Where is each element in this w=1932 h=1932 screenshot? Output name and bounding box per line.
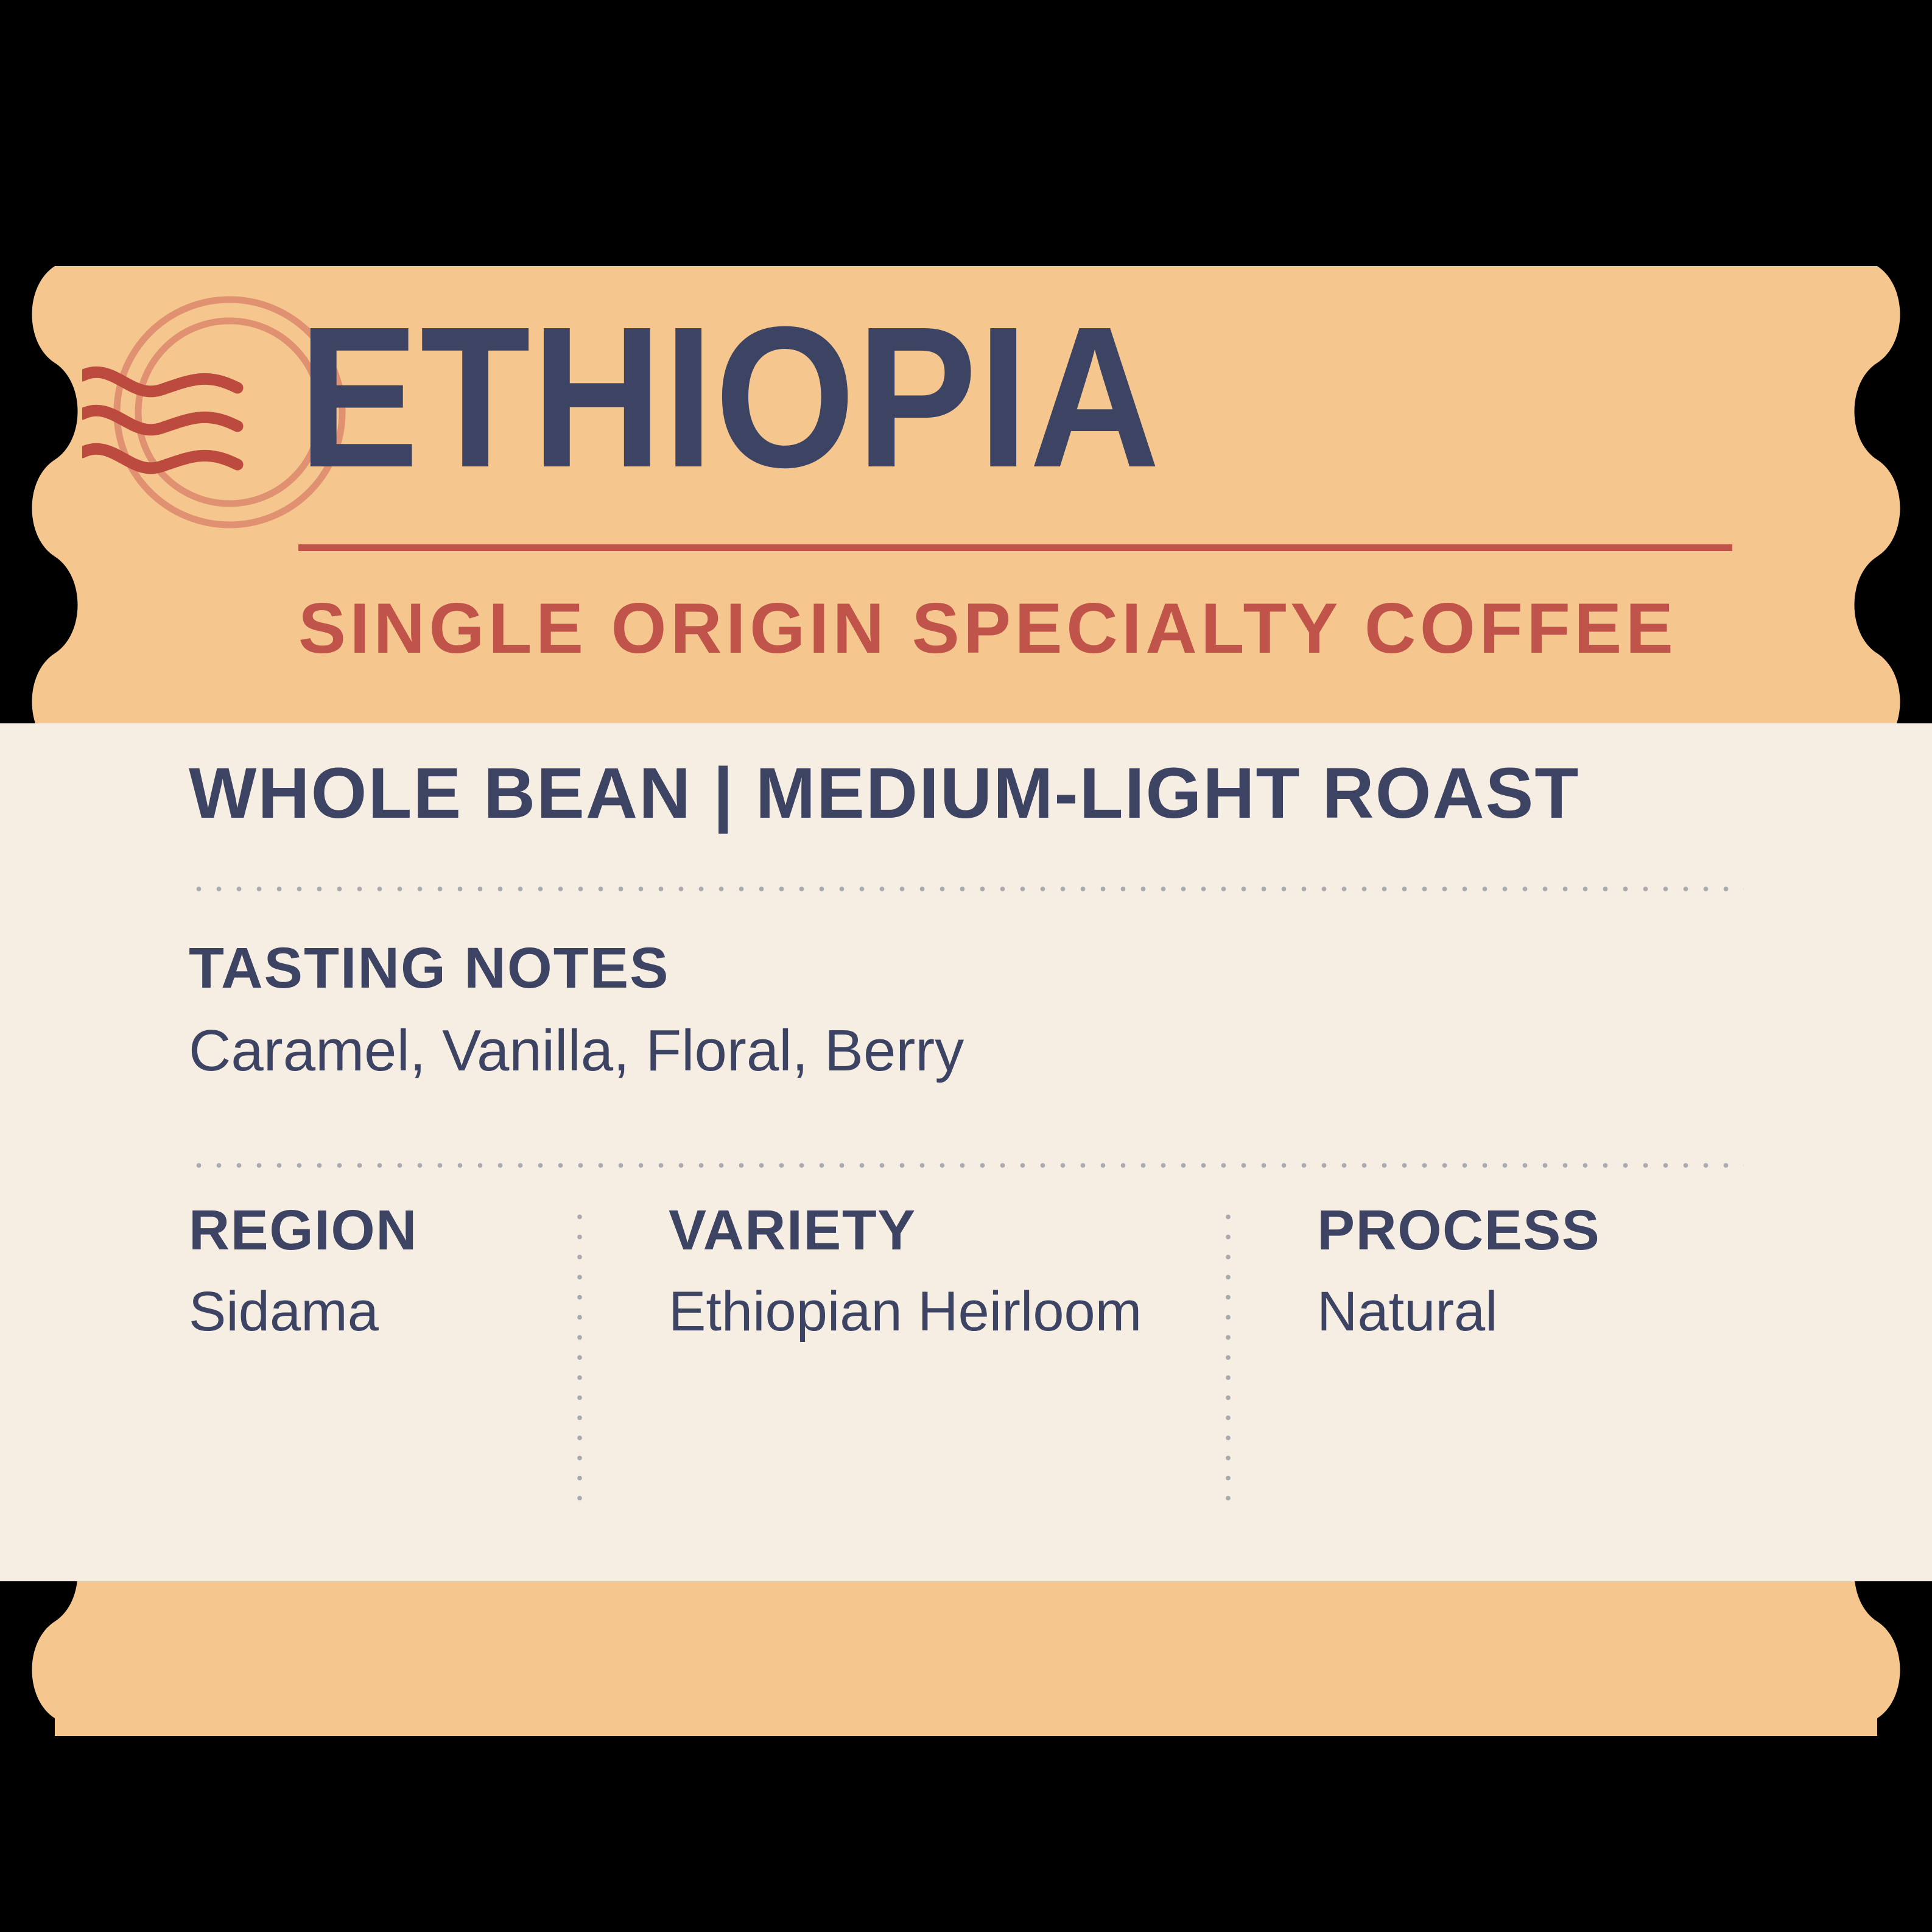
label-body: WHOLE BEAN | MEDIUM-LIGHT ROAST TASTING … [0, 723, 1932, 1581]
detail-columns: REGION Sidama VARIETY Ethiopian Heirloom… [0, 1198, 1932, 1539]
region-heading: REGION [189, 1198, 554, 1262]
process-value: Natural [1317, 1280, 1853, 1343]
label-stage: ETHIOPIA SINGLE ORIGIN SPECIALTY COFFEE … [0, 0, 1932, 1932]
coffee-label-card: ETHIOPIA SINGLE ORIGIN SPECIALTY COFFEE … [0, 266, 1932, 1736]
label-header: ETHIOPIA SINGLE ORIGIN SPECIALTY COFFEE [0, 266, 1932, 723]
tasting-notes-heading: TASTING NOTES [189, 936, 1407, 1000]
title-underline-rule [298, 544, 1732, 551]
variety-value: Ethiopian Heirloom [669, 1280, 1204, 1343]
page-title: ETHIOPIA [298, 303, 1614, 491]
label-subtitle: SINGLE ORIGIN SPECIALTY COFFEE [298, 592, 1821, 665]
detail-column-variety: VARIETY Ethiopian Heirloom [669, 1198, 1204, 1343]
detail-column-process: PROCESS Natural [1317, 1198, 1853, 1343]
label-footer-band [0, 1581, 1932, 1736]
roast-spec-line: WHOLE BEAN | MEDIUM-LIGHT ROAST [189, 754, 1833, 833]
region-value: Sidama [189, 1280, 554, 1343]
dotted-divider-bottom [189, 1162, 1744, 1168]
vertical-dotted-divider-2 [1225, 1207, 1231, 1511]
tasting-notes-value: Caramel, Vanilla, Floral, Berry [189, 1017, 1650, 1084]
process-heading: PROCESS [1317, 1198, 1853, 1262]
detail-column-region: REGION Sidama [189, 1198, 554, 1343]
label-content: ETHIOPIA SINGLE ORIGIN SPECIALTY COFFEE … [0, 266, 1932, 1736]
variety-heading: VARIETY [669, 1198, 1204, 1262]
dotted-divider-top [189, 886, 1744, 892]
vertical-dotted-divider-1 [577, 1207, 583, 1511]
